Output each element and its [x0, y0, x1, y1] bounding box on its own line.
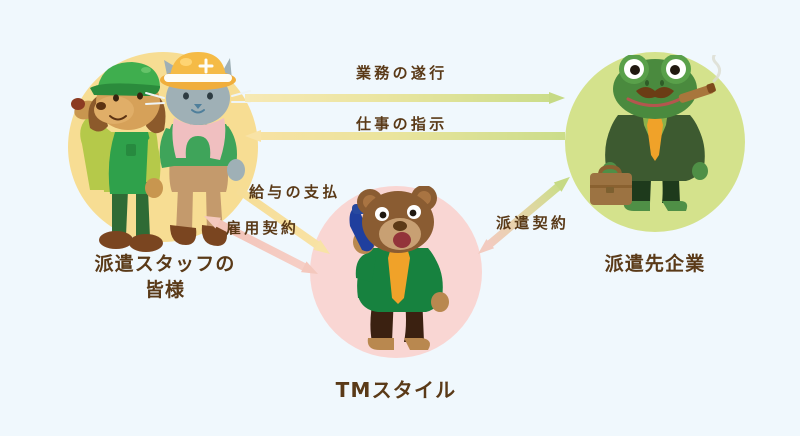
client-group-caption: 派遣先企業 [565, 252, 745, 278]
salary-flow-label: 給与の支払 [249, 181, 341, 202]
execution-flow-arrow [245, 92, 565, 104]
instruction-flow-label: 仕事の指示 [356, 113, 448, 134]
staff-group-caption: 派遣スタッフの 皆様 [40, 252, 290, 303]
arrow-head-right [549, 92, 565, 104]
dispatch-relationship-diagram: 派遣スタッフの 皆様 [0, 0, 800, 436]
agency-group-caption: TMスタイル [306, 377, 486, 404]
dispatch-flow-label: 派遣契約 [496, 212, 569, 233]
dog-worker-character [71, 62, 166, 252]
employment-flow-label: 雇用契約 [226, 217, 299, 238]
arrow-head-left [245, 130, 261, 142]
frog-boss-illustration [580, 55, 730, 235]
execution-flow-label: 業務の遂行 [356, 62, 448, 83]
bear-agency-illustration [330, 186, 470, 366]
arrow-bar [245, 94, 551, 102]
